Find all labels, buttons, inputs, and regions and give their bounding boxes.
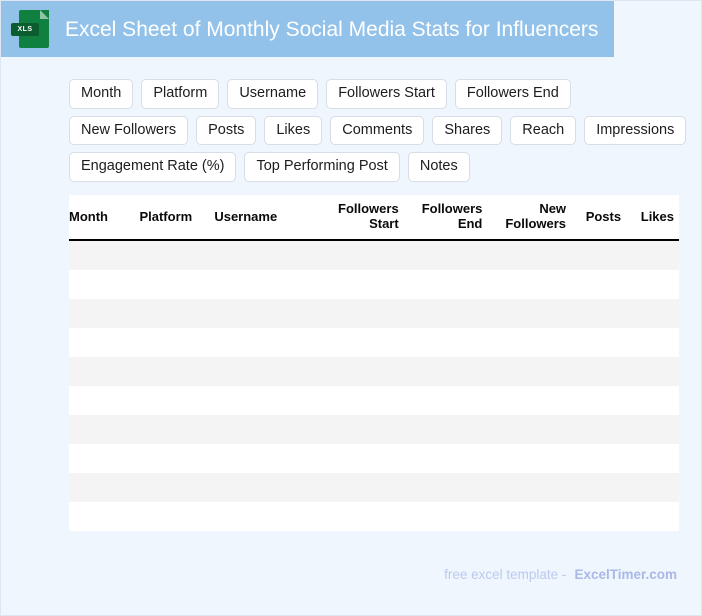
table-cell[interactable] [404, 299, 488, 328]
table-cell[interactable] [404, 240, 488, 270]
table-cell[interactable] [139, 270, 214, 299]
table-cell[interactable] [214, 502, 320, 531]
field-chip-impressions[interactable]: Impressions [584, 116, 686, 146]
field-chip-notes[interactable]: Notes [408, 152, 470, 182]
table-cell[interactable] [320, 444, 404, 473]
table-cell[interactable] [69, 240, 139, 270]
table-cell[interactable] [320, 473, 404, 502]
table-cell[interactable] [320, 415, 404, 444]
table-cell[interactable] [69, 299, 139, 328]
table-cell[interactable] [404, 270, 488, 299]
table-cell[interactable] [571, 415, 626, 444]
table-cell[interactable] [69, 444, 139, 473]
footer-credit: free excel template - ExcelTimer.com [444, 567, 677, 582]
table-cell[interactable] [320, 240, 404, 270]
table-cell[interactable] [626, 502, 679, 531]
table-cell[interactable] [139, 415, 214, 444]
table-cell[interactable] [487, 357, 571, 386]
table-cell[interactable] [487, 270, 571, 299]
table-cell[interactable] [320, 328, 404, 357]
field-chip-list: Month Platform Username Followers Start … [69, 79, 689, 182]
table-cell[interactable] [404, 444, 488, 473]
table-cell[interactable] [139, 328, 214, 357]
table-cell[interactable] [487, 473, 571, 502]
table-cell[interactable] [320, 357, 404, 386]
table-row[interactable] [69, 270, 679, 299]
table-cell[interactable] [139, 473, 214, 502]
field-chip-top-performing-post[interactable]: Top Performing Post [244, 152, 399, 182]
page-title: Excel Sheet of Monthly Social Media Stat… [65, 19, 598, 40]
table-cell[interactable] [214, 328, 320, 357]
table-cell[interactable] [214, 357, 320, 386]
table-cell[interactable] [571, 299, 626, 328]
table-cell[interactable] [487, 386, 571, 415]
xls-icon-badge-label: XLS [11, 23, 39, 36]
column-header-followers-end[interactable]: Followers End [404, 195, 488, 240]
table-row[interactable] [69, 473, 679, 502]
table-cell[interactable] [626, 299, 679, 328]
table-cell[interactable] [139, 357, 214, 386]
table-cell[interactable] [214, 299, 320, 328]
table-cell[interactable] [404, 328, 488, 357]
table-cell[interactable] [571, 444, 626, 473]
field-chip-followers-end[interactable]: Followers End [455, 79, 571, 109]
table-cell[interactable] [139, 502, 214, 531]
field-chip-username[interactable]: Username [227, 79, 318, 109]
table-body [69, 240, 679, 531]
table-cell[interactable] [139, 444, 214, 473]
table-row[interactable] [69, 386, 679, 415]
field-chip-new-followers[interactable]: New Followers [69, 116, 188, 146]
table-cell[interactable] [139, 240, 214, 270]
table-cell[interactable] [487, 444, 571, 473]
column-header-likes[interactable]: Likes [626, 195, 679, 240]
table-cell[interactable] [69, 502, 139, 531]
table-cell[interactable] [487, 415, 571, 444]
table-cell[interactable] [214, 240, 320, 270]
footer-lead-text: free excel template - [444, 567, 566, 582]
table-cell[interactable] [626, 415, 679, 444]
table-cell[interactable] [139, 299, 214, 328]
table-row[interactable] [69, 415, 679, 444]
table-cell[interactable] [69, 473, 139, 502]
table-cell[interactable] [404, 386, 488, 415]
spreadsheet-table-wrapper: Month Platform Username Followers Start … [69, 195, 679, 531]
table-cell[interactable] [626, 473, 679, 502]
table-cell[interactable] [214, 270, 320, 299]
field-chip-platform[interactable]: Platform [141, 79, 219, 109]
table-row[interactable] [69, 240, 679, 270]
column-header-followers-start[interactable]: Followers Start [320, 195, 404, 240]
field-chip-month[interactable]: Month [69, 79, 133, 109]
table-cell[interactable] [487, 299, 571, 328]
table-cell[interactable] [69, 386, 139, 415]
xls-file-icon: XLS [19, 10, 49, 48]
field-chip-shares[interactable]: Shares [432, 116, 502, 146]
table-cell[interactable] [571, 328, 626, 357]
table-cell[interactable] [626, 386, 679, 415]
table-cell[interactable] [320, 386, 404, 415]
field-chip-likes[interactable]: Likes [264, 116, 322, 146]
table-cell[interactable] [69, 328, 139, 357]
table-cell[interactable] [69, 415, 139, 444]
table-cell[interactable] [214, 415, 320, 444]
table-cell[interactable] [626, 328, 679, 357]
table-cell[interactable] [69, 357, 139, 386]
table-cell[interactable] [571, 502, 626, 531]
column-header-month[interactable]: Month [69, 195, 139, 240]
field-chip-comments[interactable]: Comments [330, 116, 424, 146]
table-row[interactable] [69, 328, 679, 357]
field-chip-followers-start[interactable]: Followers Start [326, 79, 447, 109]
table-cell[interactable] [626, 270, 679, 299]
table-cell[interactable] [571, 386, 626, 415]
table-cell[interactable] [487, 240, 571, 270]
table-cell[interactable] [626, 357, 679, 386]
table-row[interactable] [69, 299, 679, 328]
table-cell[interactable] [487, 502, 571, 531]
table-cell[interactable] [404, 473, 488, 502]
table-cell[interactable] [571, 357, 626, 386]
table-cell[interactable] [320, 270, 404, 299]
field-chip-reach[interactable]: Reach [510, 116, 576, 146]
page-root: { "header": { "title": "Excel Sheet of M… [0, 0, 702, 616]
table-cell[interactable] [571, 270, 626, 299]
table-cell[interactable] [139, 386, 214, 415]
table-cell[interactable] [214, 473, 320, 502]
footer-brand-link[interactable]: ExcelTimer.com [574, 567, 677, 582]
table-cell[interactable] [404, 357, 488, 386]
table-cell[interactable] [404, 502, 488, 531]
column-header-username[interactable]: Username [214, 195, 320, 240]
table-cell[interactable] [571, 240, 626, 270]
table-header: Month Platform Username Followers Start … [69, 195, 679, 240]
field-chip-posts[interactable]: Posts [196, 116, 256, 146]
table-row[interactable] [69, 444, 679, 473]
column-header-new-followers[interactable]: New Followers [487, 195, 571, 240]
table-cell[interactable] [69, 270, 139, 299]
field-chip-engagement-rate[interactable]: Engagement Rate (%) [69, 152, 236, 182]
table-cell[interactable] [626, 444, 679, 473]
column-header-posts[interactable]: Posts [571, 195, 626, 240]
table-cell[interactable] [404, 415, 488, 444]
table-row[interactable] [69, 357, 679, 386]
table-cell[interactable] [487, 328, 571, 357]
header-bar: XLS Excel Sheet of Monthly Social Media … [1, 1, 614, 57]
spreadsheet-table: Month Platform Username Followers Start … [69, 195, 679, 531]
table-header-row: Month Platform Username Followers Start … [69, 195, 679, 240]
table-cell[interactable] [320, 502, 404, 531]
table-cell[interactable] [571, 473, 626, 502]
column-header-platform[interactable]: Platform [139, 195, 214, 240]
table-cell[interactable] [320, 299, 404, 328]
table-cell[interactable] [214, 444, 320, 473]
table-row[interactable] [69, 502, 679, 531]
table-cell[interactable] [626, 240, 679, 270]
table-cell[interactable] [214, 386, 320, 415]
